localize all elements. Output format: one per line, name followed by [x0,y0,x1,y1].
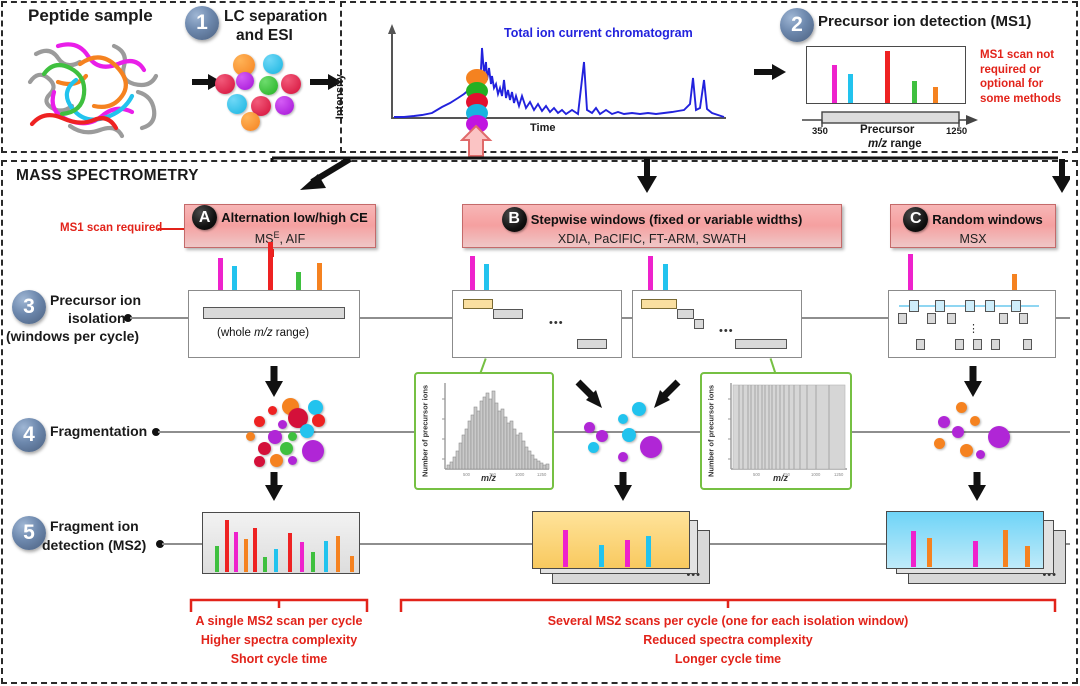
peptide-sample-illustration [18,30,188,145]
random-window [973,339,982,350]
isolation-b-fixed-ellipsis: ••• [549,317,564,329]
conclusion-left-line-1: Higher spectra complexity [188,633,370,647]
step-4-number: 4 [12,418,46,452]
ms2b-peak [646,536,651,567]
random-window [909,300,919,312]
method-banner-c[interactable]: C Random windows MSX [890,204,1056,248]
conclusion-left-line-0: A single MS2 scan per cycle [188,614,370,628]
histogram-1-xlabel: m/z [481,473,496,483]
isolation-a-precursor-bars [188,248,360,290]
fragment-cluster-c [930,402,1018,464]
step-5-badge: 5 [12,516,46,550]
step-3-label-line1: Precursor ion [50,292,141,308]
fragment-dot [938,416,950,428]
method-a-title: Alternation low/high CE [221,210,368,225]
arrow-chromatogram-to-ms1 [752,62,788,82]
fragment-dot [246,432,255,441]
method-b-techniques: XDIA, PaCIFIC, FT-ARM, SWATH [558,232,746,246]
ms1-peak-magenta [832,65,837,103]
ms2a-peak [244,539,248,572]
ms2a-peak [300,542,304,572]
step-2-badge: 2 [780,8,814,42]
fragment-dot [956,402,967,413]
precursor-bar-magenta [908,254,913,290]
svg-text:500: 500 [753,472,761,477]
ms1-peak-green [912,81,917,103]
arrow-fragmentation-b-to-ms2 [612,470,634,504]
fragment-dot [270,454,283,467]
step-1-label-line2: and ESI [236,27,293,45]
ms1-note-line-1: required or [980,63,1074,78]
precursor-bar-cyan [484,264,489,290]
random-window-vertical-ellipsis: ⋮ [968,327,979,331]
fragment-dot [312,414,325,427]
random-window [985,300,995,312]
fragment-dot [622,428,636,442]
precursor-bar-magenta [648,256,653,290]
ms1-peak-cyan [848,74,853,103]
method-c-title: Random windows [932,212,1043,227]
fragment-dot [280,442,293,455]
ms2c-peak [1003,530,1008,567]
svg-text:500: 500 [463,472,471,477]
conclusion-right-line-1: Reduced spectra complexity [398,633,1058,647]
precursor-bar-magenta [218,258,223,290]
svg-text:1000: 1000 [515,472,525,477]
mz-range-caption-line1: Precursor [860,124,914,136]
ms2-spectrum-panel-a [202,512,360,574]
fragment-cluster-b [578,400,668,466]
method-b-letter: B [502,207,527,232]
isolation-b-variable-precursor-bars [632,252,802,290]
arrow-isolation-c-to-fragmentation [962,364,984,400]
fragment-dot [952,426,964,438]
ms1-note-line-3: some methods [980,92,1074,107]
fragment-dot [584,422,595,433]
ms2c-peak [1025,546,1030,567]
fragment-dot [596,430,608,442]
isolation-window-var-last [735,339,787,349]
fragment-dot [618,452,628,462]
precursor-bar-cyan [663,264,668,290]
ms2a-peak [288,533,292,572]
precursor-bar-magenta [470,256,475,290]
ms1-spectrum-box [806,46,966,104]
method-b-title: Stepwise windows (fixed or variable widt… [531,212,803,227]
isolation-window-var-1 [641,299,677,309]
histogram-inset-fixed: Number of precursor ions [414,372,554,490]
step-5-label-line2: detection (MS2) [42,537,146,553]
fragment-dot [288,456,297,465]
ms1-note-line-2: optional for [980,77,1074,92]
ms2b-peak [625,540,630,567]
ms2a-peak [225,520,229,572]
chromatogram-ylabel: Intensity [334,74,346,119]
ionized-peptides-cluster [215,52,307,128]
ms2-spectrum-panel-c [886,511,1044,569]
step-4-label: Fragmentation [50,423,147,439]
random-window [965,300,975,312]
histogram-2-ylabel: Number of precursor ions [705,377,717,485]
ms2a-peak [324,541,328,572]
svg-text:1250: 1250 [537,472,547,477]
fragment-dot [308,400,323,415]
mz-range-max-label: 1250 [946,126,967,137]
mz-range-min-label: 350 [812,126,828,137]
step-1-number: 1 [185,6,219,40]
method-banner-a[interactable]: A Alternation low/high CE MSE, AIF [184,204,376,248]
ion-dot [236,72,254,90]
method-a-letter: A [192,205,217,230]
fragment-dot [618,414,628,424]
conclusion-right-line-2: Longer cycle time [398,652,1058,666]
isolation-window-fixed-1 [463,299,493,309]
method-c-letter: C [903,207,928,232]
precursor-bar-orange [317,263,322,290]
method-distribution-bus [150,148,1070,200]
ms2a-peak [350,556,354,572]
random-window [927,313,936,324]
whole-mz-range-caption: (whole m/z range) [217,327,309,339]
random-window [898,313,907,324]
conclusion-right-line-0: Several MS2 scans per cycle (one for eac… [398,614,1058,628]
ms2a-peak [274,549,278,572]
ms1-peak-orange [933,87,938,103]
precursor-bar-orange [1012,274,1017,290]
random-window [1023,339,1032,350]
step-5-label-line1: Fragment ion [50,518,139,534]
ms2c-peak [973,541,978,567]
random-window [935,300,945,312]
ms1-optional-note: MS1 scan not required or optional for so… [980,48,1074,106]
method-a-techniques: MSE, AIF [255,230,305,246]
chromatogram-title: Total ion current chromatogram [504,26,693,40]
isolation-window-fixed-last [577,339,607,349]
step-1-badge: 1 [185,6,219,40]
fragment-dot [588,442,599,453]
fragment-dot [934,438,945,449]
method-c-techniques: MSX [959,232,986,246]
ms2a-peak [253,528,257,572]
ms2b-peak [563,530,568,567]
arrow-fragmentation-a-to-ms2 [263,470,285,504]
random-window [1019,313,1028,324]
step-2-number: 2 [780,8,814,42]
ms2c-peak [927,538,932,567]
histogram-1-ylabel: Number of precursor ions [419,377,431,485]
conclusion-right-bracket [398,596,1058,614]
svg-text:1000: 1000 [811,472,821,477]
ms2a-peak [311,552,315,572]
svg-text:1250: 1250 [834,472,844,477]
step-3-label-line2: isolation [68,310,126,326]
step-1-label-line1: LC separation [224,8,327,26]
fragment-dot [278,420,287,429]
chromatogram-xlabel: Time [530,122,555,134]
ms2a-peak [215,546,219,572]
chromatogram-panel: Total ion current chromatogram Intensity… [356,18,746,144]
fragment-dot [302,440,324,462]
ms2b-peak [599,545,604,567]
fragment-dot [640,436,662,458]
step-3-label-line3: (windows per cycle) [6,328,139,344]
ion-dot [241,112,260,131]
step-3-number: 3 [12,290,46,324]
fragment-dot [288,432,297,441]
isolation-box-b-variable: ••• [632,290,802,358]
histogram-inset-variable: Number of precursor ions [700,372,852,490]
fragment-cluster-a [240,398,352,468]
random-window [955,339,964,350]
isolation-window-var-3 [694,319,704,329]
fragment-dot [258,442,271,455]
isolation-box-c-random: ⋮ [888,290,1056,358]
ion-dot [215,74,235,94]
peptide-sample-title: Peptide sample [28,6,153,26]
conclusion-left-bracket [188,596,370,614]
fragment-dot [254,416,265,427]
step-4-badge: 4 [12,418,46,452]
method-banner-b[interactable]: B Stepwise windows (fixed or variable wi… [462,204,842,248]
ion-dot [275,96,294,115]
isolation-box-b-fixed: ••• [452,290,622,358]
random-window [991,339,1000,350]
isolation-box-a: (whole m/z range) [188,290,360,358]
isolation-b-variable-ellipsis: ••• [719,325,734,337]
arrow-fragmentation-c-to-ms2 [966,470,988,504]
whole-mz-window-bar [203,307,345,319]
ms1-note-line-0: MS1 scan not [980,48,1074,63]
fragment-dot [976,450,985,459]
ion-dot [263,54,283,74]
figure-canvas: Peptide sample 1 LC separation and ESI [0,0,1080,686]
random-window [916,339,925,350]
histogram-2-xlabel: m/z [773,473,788,483]
precursor-bar-red [268,242,273,290]
fragment-dot [300,424,314,438]
ion-dot [227,94,247,114]
conclusion-left-line-2: Short cycle time [188,652,370,666]
histogram-2-plot: 500750 10001250 [717,377,851,487]
arrow-isolation-a-to-fragmentation [263,364,285,400]
random-window [947,313,956,324]
fragment-dot [988,426,1010,448]
isolation-b-fixed-precursor-bars [452,252,622,290]
ion-dot [259,76,278,95]
fragment-dot [632,402,646,416]
histogram-1-plot: 500750 10001250 [431,377,553,487]
ms1-peak-red [885,51,890,103]
step-2-label: Precursor ion detection (MS1) [818,13,1031,30]
ms2a-peak [263,557,267,572]
precursor-bar-green [296,272,301,290]
step-5-number: 5 [12,516,46,550]
random-window [999,313,1008,324]
fragment-dot [268,430,282,444]
random-window [1011,300,1021,312]
isolation-window-var-2 [677,309,694,319]
precursor-bar-cyan [232,266,237,290]
step-3-badge: 3 [12,290,46,324]
ms2a-peak [234,532,238,572]
ion-dot [281,74,301,94]
fragment-dot [268,406,277,415]
fragment-dot [254,456,265,467]
ms2c-peak [911,531,916,567]
isolation-c-precursor-bars [888,250,1056,290]
ms1-required-annotation: MS1 scan required [60,222,162,234]
fragment-dot [970,416,980,426]
fragment-dot [960,444,973,457]
isolation-window-fixed-2 [493,309,523,319]
ms2-spectrum-panel-b [532,511,690,569]
ms2a-peak [336,536,340,572]
